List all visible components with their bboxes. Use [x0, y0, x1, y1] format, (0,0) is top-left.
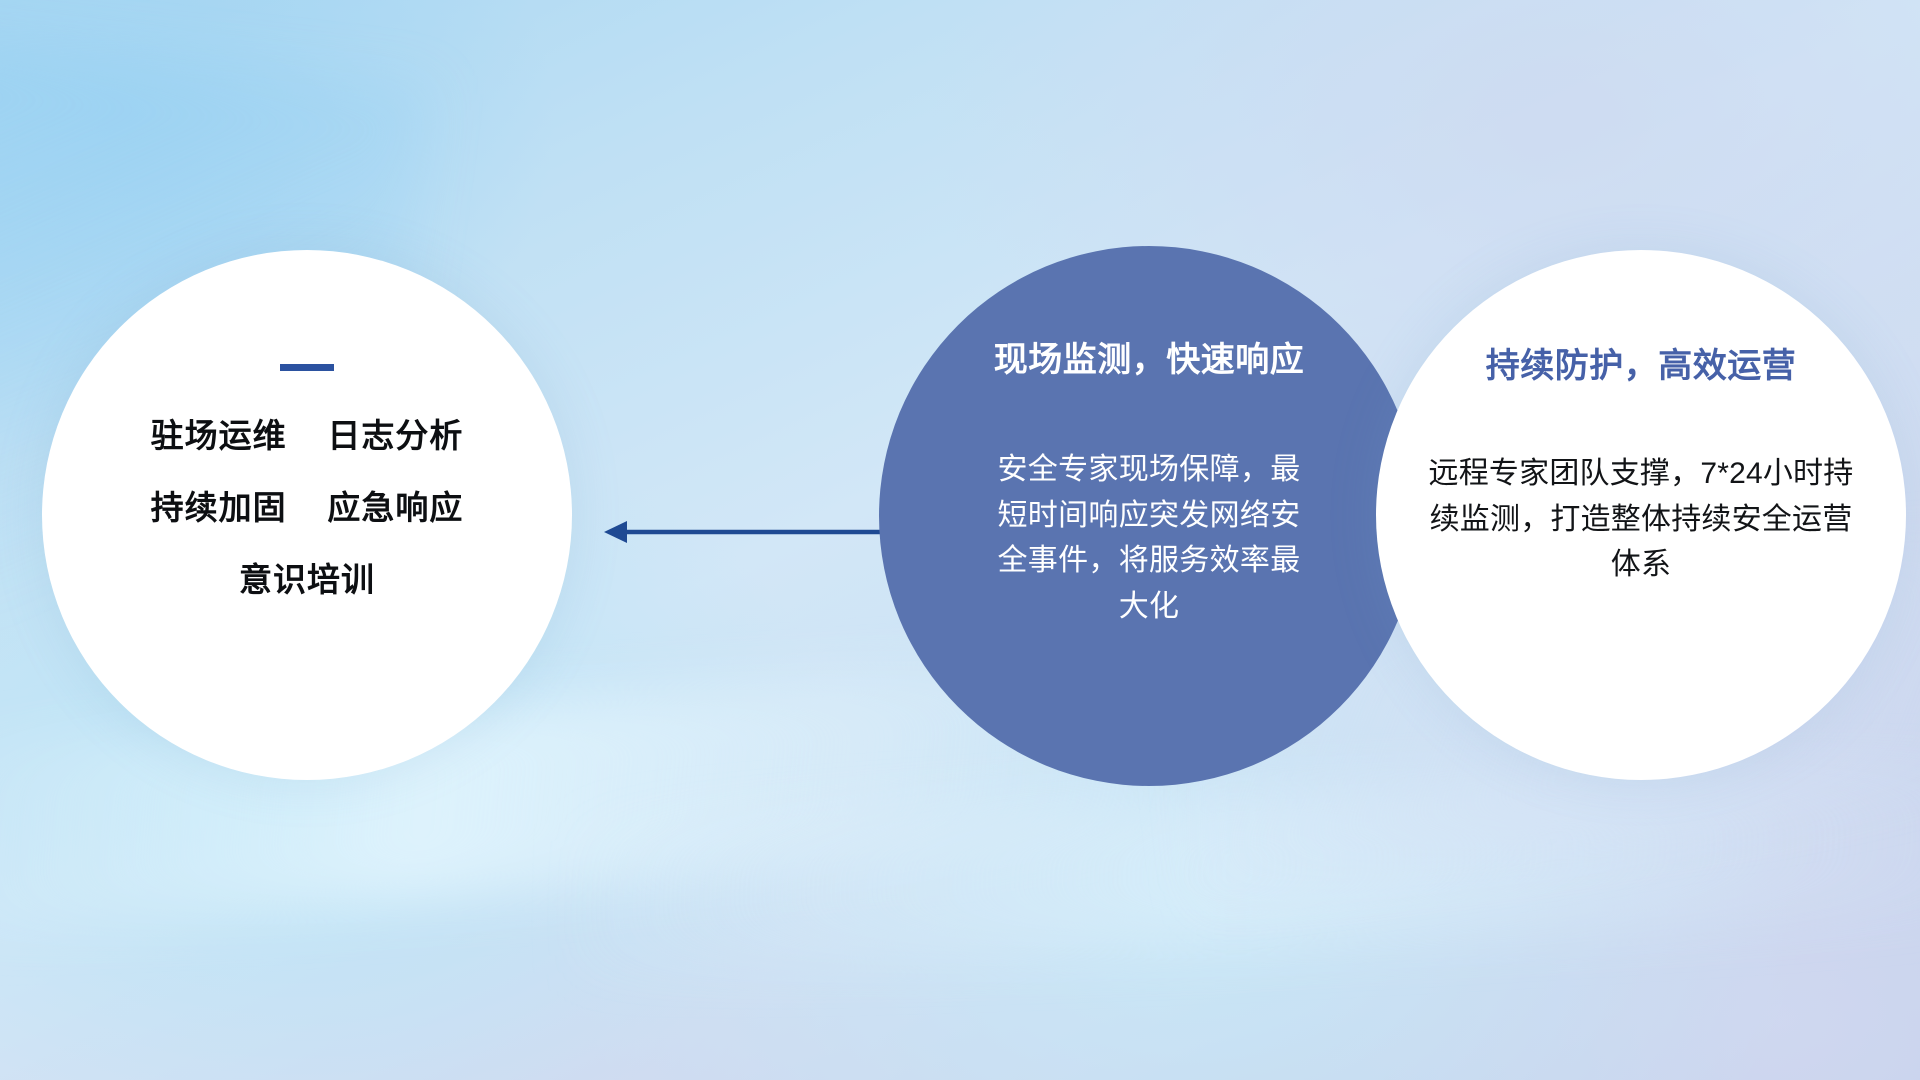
background-light-streak: [557, 757, 1920, 972]
dash-divider-icon: [280, 364, 334, 371]
onsite-monitoring-title: 现场监测，快速响应: [994, 332, 1305, 381]
keyword-line: 持续加固 应急响应: [151, 491, 464, 524]
continuous-protection-circle: 持续防护，高效运营 远程专家团队支撑，7*24小时持续监测，打造整体持续安全运营…: [1376, 250, 1906, 780]
keyword-line: 意识培训: [239, 563, 375, 596]
arrow-left-icon: [600, 512, 900, 552]
continuous-protection-title: 持续防护，高效运营: [1486, 338, 1797, 387]
onsite-monitoring-body: 安全专家现场保障，最短时间响应突发网络安全事件，将服务效率最大化: [984, 447, 1314, 629]
keyword-line: 驻场运维 日志分析: [151, 419, 464, 452]
onsite-monitoring-circle: 现场监测，快速响应 安全专家现场保障，最短时间响应突发网络安全事件，将服务效率最…: [879, 246, 1419, 786]
capabilities-circle: 驻场运维 日志分析 持续加固 应急响应 意识培训: [42, 250, 572, 780]
continuous-protection-body: 远程专家团队支撑，7*24小时持续监测，打造整体持续安全运营体系: [1426, 451, 1856, 588]
slide-canvas: 驻场运维 日志分析 持续加固 应急响应 意识培训 现场监测，快速响应 安全专家现…: [0, 0, 1920, 1080]
